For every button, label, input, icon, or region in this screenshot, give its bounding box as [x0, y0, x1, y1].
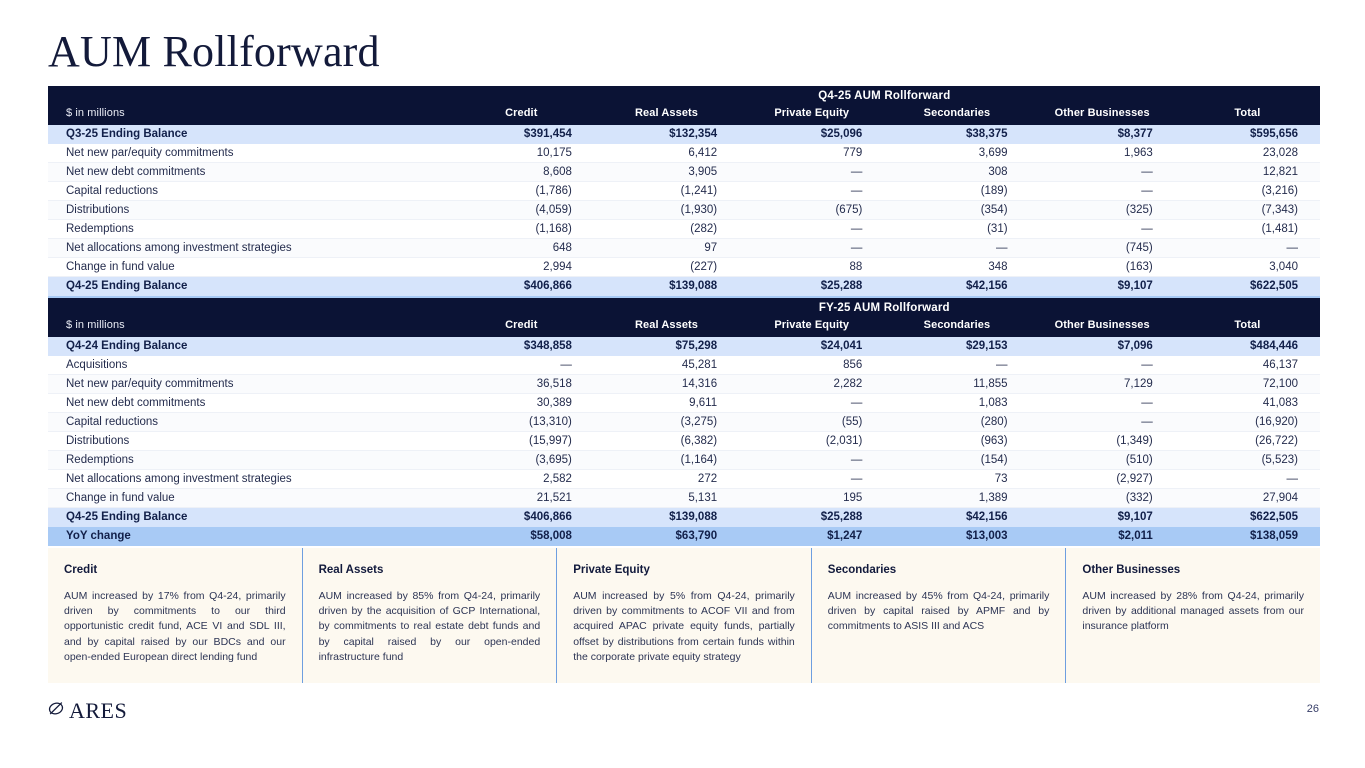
table-cell: (1,930): [594, 201, 739, 220]
table-row: Redemptions(1,168)(282)—(31)—(1,481): [48, 220, 1320, 239]
column-header: Private Equity: [739, 316, 884, 337]
row-label: Distributions: [48, 432, 449, 451]
table-cell: $139,088: [594, 277, 739, 296]
table-row: Net new par/equity commitments10,1756,41…: [48, 144, 1320, 163]
column-header: Credit: [449, 316, 594, 337]
table-cell: (55): [739, 413, 884, 432]
table-cell: (354): [884, 201, 1029, 220]
table-row: Q4-25 Ending Balance$406,866$139,088$25,…: [48, 277, 1320, 296]
table-cell: 195: [739, 489, 884, 508]
row-label: Distributions: [48, 201, 449, 220]
table-cell: (15,997): [449, 432, 594, 451]
table-cell: —: [739, 470, 884, 489]
table-cell: 7,129: [1030, 375, 1175, 394]
table-body-1: FY-25 AUM Rollforward$ in millionsCredit…: [48, 298, 1320, 546]
table-cell: $42,156: [884, 277, 1029, 296]
table-cell: $391,454: [449, 125, 594, 144]
unit-label: $ in millions: [48, 104, 449, 125]
table-cell: (3,695): [449, 451, 594, 470]
commentary-body: AUM increased by 17% from Q4-24, primari…: [64, 589, 286, 665]
row-label: Change in fund value: [48, 258, 449, 277]
column-header: Other Businesses: [1030, 316, 1175, 337]
row-label: Net new debt commitments: [48, 394, 449, 413]
table-cell: (280): [884, 413, 1029, 432]
table-row: Q4-24 Ending Balance$348,858$75,298$24,0…: [48, 337, 1320, 356]
table-cell: —: [1030, 356, 1175, 375]
table-cell: 779: [739, 144, 884, 163]
table-cell: —: [1030, 394, 1175, 413]
column-header: Secondaries: [884, 104, 1029, 125]
table-cell: —: [449, 356, 594, 375]
row-label: Q4-24 Ending Balance: [48, 337, 449, 356]
commentary-body: AUM increased by 5% from Q4-24, primaril…: [573, 589, 795, 665]
table-row: Q4-25 Ending Balance$406,866$139,088$25,…: [48, 508, 1320, 527]
q4-rollforward-table: Q4-25 AUM Rollforward$ in millionsCredit…: [48, 86, 1320, 315]
table-row: Net new debt commitments30,3899,611—1,08…: [48, 394, 1320, 413]
table-cell: 856: [739, 356, 884, 375]
table-cell: —: [884, 239, 1029, 258]
table-cell: (1,349): [1030, 432, 1175, 451]
table-cell: $13,003: [884, 527, 1029, 546]
table-cell: (675): [739, 201, 884, 220]
table-cell: —: [1030, 220, 1175, 239]
column-header: Credit: [449, 104, 594, 125]
band-title-spacer: [48, 86, 449, 104]
table-cell: (3,216): [1175, 182, 1320, 201]
column-header: Total: [1175, 316, 1320, 337]
column-header: Private Equity: [739, 104, 884, 125]
page-number: 26: [1307, 703, 1319, 715]
table-cell: (7,343): [1175, 201, 1320, 220]
table-row: Net new debt commitments8,6083,905—308—1…: [48, 163, 1320, 182]
table-cell: 272: [594, 470, 739, 489]
band-title-spacer: [48, 298, 449, 316]
row-label: Net new debt commitments: [48, 163, 449, 182]
table-cell: (31): [884, 220, 1029, 239]
table-cell: $7,096: [1030, 337, 1175, 356]
table-band-title: Q4-25 AUM Rollforward: [449, 86, 1320, 104]
table-cell: (745): [1030, 239, 1175, 258]
table-cell: 21,521: [449, 489, 594, 508]
table-cell: (163): [1030, 258, 1175, 277]
table-cell: (510): [1030, 451, 1175, 470]
table-cell: 88: [739, 258, 884, 277]
table-row: Distributions(4,059)(1,930)(675)(354)(32…: [48, 201, 1320, 220]
table-cell: $9,107: [1030, 508, 1175, 527]
row-label: Acquisitions: [48, 356, 449, 375]
table-cell: 3,699: [884, 144, 1029, 163]
table-cell: 1,083: [884, 394, 1029, 413]
table-cell: $595,656: [1175, 125, 1320, 144]
table-cell: $63,790: [594, 527, 739, 546]
table-cell: $38,375: [884, 125, 1029, 144]
table-cell: 2,282: [739, 375, 884, 394]
table-cell: —: [1175, 470, 1320, 489]
table-cell: —: [1030, 413, 1175, 432]
table-row: Net new par/equity commitments36,51814,3…: [48, 375, 1320, 394]
table-cell: 308: [884, 163, 1029, 182]
table-cell: (1,241): [594, 182, 739, 201]
commentary-row: CreditAUM increased by 17% from Q4-24, p…: [48, 548, 1320, 683]
table-cell: 348: [884, 258, 1029, 277]
table-cell: (963): [884, 432, 1029, 451]
table-cell: —: [1175, 239, 1320, 258]
commentary-title: Other Businesses: [1082, 564, 1304, 576]
table-cell: (4,059): [449, 201, 594, 220]
table-cell: 12,821: [1175, 163, 1320, 182]
table-cell: $406,866: [449, 508, 594, 527]
table-header-row: $ in millionsCreditReal AssetsPrivate Eq…: [48, 104, 1320, 125]
row-label: Q3-25 Ending Balance: [48, 125, 449, 144]
table-row: YoY change$58,008$63,790$1,247$13,003$2,…: [48, 527, 1320, 546]
table-cell: (2,031): [739, 432, 884, 451]
commentary-card: SecondariesAUM increased by 45% from Q4-…: [811, 548, 1066, 683]
table-row: Distributions(15,997)(6,382)(2,031)(963)…: [48, 432, 1320, 451]
table-cell: (325): [1030, 201, 1175, 220]
table-cell: $406,866: [449, 277, 594, 296]
table-cell: (1,786): [449, 182, 594, 201]
column-header: Other Businesses: [1030, 104, 1175, 125]
ares-logo-text: ARES: [69, 700, 127, 722]
table-cell: $75,298: [594, 337, 739, 356]
table-cell: (1,164): [594, 451, 739, 470]
table-cell: $8,377: [1030, 125, 1175, 144]
table-cell: 3,040: [1175, 258, 1320, 277]
table-cell: (6,382): [594, 432, 739, 451]
column-header: Total: [1175, 104, 1320, 125]
table-cell: 11,855: [884, 375, 1029, 394]
commentary-body: AUM increased by 85% from Q4-24, primari…: [319, 589, 541, 665]
table-cell: (227): [594, 258, 739, 277]
column-header: Real Assets: [594, 104, 739, 125]
table-cell: (13,310): [449, 413, 594, 432]
table-band-title-row: FY-25 AUM Rollforward: [48, 298, 1320, 316]
table-cell: (2,927): [1030, 470, 1175, 489]
commentary-title: Real Assets: [319, 564, 541, 576]
table-row: Capital reductions(13,310)(3,275)(55)(28…: [48, 413, 1320, 432]
table-cell: —: [739, 163, 884, 182]
commentary-title: Secondaries: [828, 564, 1050, 576]
row-label: Capital reductions: [48, 182, 449, 201]
table-cell: $622,505: [1175, 508, 1320, 527]
table-cell: 97: [594, 239, 739, 258]
table-cell: $348,858: [449, 337, 594, 356]
slashed-oval-icon: [46, 698, 66, 723]
table-cell: $622,505: [1175, 277, 1320, 296]
row-label: Redemptions: [48, 220, 449, 239]
table-cell: 23,028: [1175, 144, 1320, 163]
table-row: Acquisitions—45,281856——46,137: [48, 356, 1320, 375]
table-cell: 30,389: [449, 394, 594, 413]
table-cell: $132,354: [594, 125, 739, 144]
table-cell: —: [884, 356, 1029, 375]
table-cell: 14,316: [594, 375, 739, 394]
table-cell: 46,137: [1175, 356, 1320, 375]
row-label: Net allocations among investment strateg…: [48, 239, 449, 258]
table-cell: (3,275): [594, 413, 739, 432]
fy-rollforward-table-wrap: FY-25 AUM Rollforward$ in millionsCredit…: [48, 298, 1320, 546]
commentary-title: Private Equity: [573, 564, 795, 576]
table-cell: (332): [1030, 489, 1175, 508]
table-cell: $24,041: [739, 337, 884, 356]
table-cell: 2,994: [449, 258, 594, 277]
page-title: AUM Rollforward: [48, 28, 380, 76]
row-label: Capital reductions: [48, 413, 449, 432]
row-label: YoY change: [48, 527, 449, 546]
commentary-card: CreditAUM increased by 17% from Q4-24, p…: [48, 548, 302, 683]
table-cell: (1,168): [449, 220, 594, 239]
table-cell: 10,175: [449, 144, 594, 163]
table-cell: 1,963: [1030, 144, 1175, 163]
table-cell: 3,905: [594, 163, 739, 182]
table-row: Redemptions(3,695)(1,164)—(154)(510)(5,5…: [48, 451, 1320, 470]
table-cell: (16,920): [1175, 413, 1320, 432]
table-cell: $25,288: [739, 508, 884, 527]
table-cell: 41,083: [1175, 394, 1320, 413]
table-cell: (282): [594, 220, 739, 239]
table-cell: 1,389: [884, 489, 1029, 508]
table-cell: $9,107: [1030, 277, 1175, 296]
row-label: Change in fund value: [48, 489, 449, 508]
commentary-card: Real AssetsAUM increased by 85% from Q4-…: [302, 548, 557, 683]
row-label: Net allocations among investment strateg…: [48, 470, 449, 489]
table-cell: $2,011: [1030, 527, 1175, 546]
fy-rollforward-table: FY-25 AUM Rollforward$ in millionsCredit…: [48, 298, 1320, 546]
commentary-card: Other BusinessesAUM increased by 28% fro…: [1065, 548, 1320, 683]
table-cell: —: [739, 182, 884, 201]
ares-logo: ARES: [46, 698, 127, 723]
table-cell: 8,608: [449, 163, 594, 182]
table-band-title-row: Q4-25 AUM Rollforward: [48, 86, 1320, 104]
table-cell: (5,523): [1175, 451, 1320, 470]
table-cell: $58,008: [449, 527, 594, 546]
table-cell: —: [739, 220, 884, 239]
table-cell: —: [739, 451, 884, 470]
table-band-title: FY-25 AUM Rollforward: [449, 298, 1320, 316]
table-cell: $138,059: [1175, 527, 1320, 546]
table-row: Net allocations among investment strateg…: [48, 470, 1320, 489]
table-cell: (189): [884, 182, 1029, 201]
table-cell: 73: [884, 470, 1029, 489]
table-row: Change in fund value2,994(227)88348(163)…: [48, 258, 1320, 277]
table-cell: 72,100: [1175, 375, 1320, 394]
row-label: Net new par/equity commitments: [48, 144, 449, 163]
table-cell: (154): [884, 451, 1029, 470]
table-cell: (1,481): [1175, 220, 1320, 239]
table-cell: $1,247: [739, 527, 884, 546]
commentary-body: AUM increased by 28% from Q4-24, primari…: [1082, 589, 1304, 635]
table-cell: —: [739, 239, 884, 258]
table-row: Change in fund value21,5215,1311951,389(…: [48, 489, 1320, 508]
table-cell: (26,722): [1175, 432, 1320, 451]
table-body-0: Q4-25 AUM Rollforward$ in millionsCredit…: [48, 86, 1320, 315]
table-cell: $25,288: [739, 277, 884, 296]
table-cell: 36,518: [449, 375, 594, 394]
table-cell: 6,412: [594, 144, 739, 163]
commentary-body: AUM increased by 45% from Q4-24, primari…: [828, 589, 1050, 635]
commentary-title: Credit: [64, 564, 286, 576]
commentary-card: Private EquityAUM increased by 5% from Q…: [556, 548, 811, 683]
table-row: Capital reductions(1,786)(1,241)—(189)—(…: [48, 182, 1320, 201]
table-cell: $29,153: [884, 337, 1029, 356]
q4-rollforward-table-wrap: Q4-25 AUM Rollforward$ in millionsCredit…: [48, 86, 1320, 315]
table-cell: $25,096: [739, 125, 884, 144]
table-cell: 5,131: [594, 489, 739, 508]
table-cell: 9,611: [594, 394, 739, 413]
table-cell: $42,156: [884, 508, 1029, 527]
table-cell: $139,088: [594, 508, 739, 527]
column-header: Real Assets: [594, 316, 739, 337]
row-label: Redemptions: [48, 451, 449, 470]
table-row: Q3-25 Ending Balance$391,454$132,354$25,…: [48, 125, 1320, 144]
unit-label: $ in millions: [48, 316, 449, 337]
table-cell: —: [1030, 163, 1175, 182]
table-cell: —: [739, 394, 884, 413]
row-label: Q4-25 Ending Balance: [48, 508, 449, 527]
table-cell: 648: [449, 239, 594, 258]
row-label: Q4-25 Ending Balance: [48, 277, 449, 296]
table-header-row: $ in millionsCreditReal AssetsPrivate Eq…: [48, 316, 1320, 337]
row-label: Net new par/equity commitments: [48, 375, 449, 394]
table-row: Net allocations among investment strateg…: [48, 239, 1320, 258]
table-cell: —: [1030, 182, 1175, 201]
table-cell: 45,281: [594, 356, 739, 375]
table-cell: 27,904: [1175, 489, 1320, 508]
table-cell: 2,582: [449, 470, 594, 489]
column-header: Secondaries: [884, 316, 1029, 337]
table-cell: $484,446: [1175, 337, 1320, 356]
